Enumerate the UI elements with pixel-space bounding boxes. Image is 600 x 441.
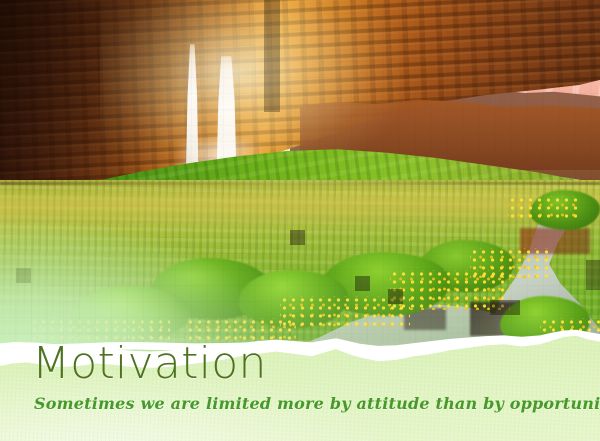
page-title: Motivation [32, 342, 267, 386]
landscape-photo [0, 0, 600, 365]
compression-block [290, 230, 305, 245]
compression-block [355, 276, 370, 291]
compression-block [264, 0, 280, 112]
compression-block [490, 300, 520, 315]
quote-text: Sometimes we are limited more by attitud… [34, 396, 600, 412]
compression-block [16, 268, 31, 283]
compression-block [586, 260, 600, 290]
compression-block [388, 289, 403, 304]
motivation-poster-card: Motivation Sometimes we are limited more… [0, 0, 600, 441]
